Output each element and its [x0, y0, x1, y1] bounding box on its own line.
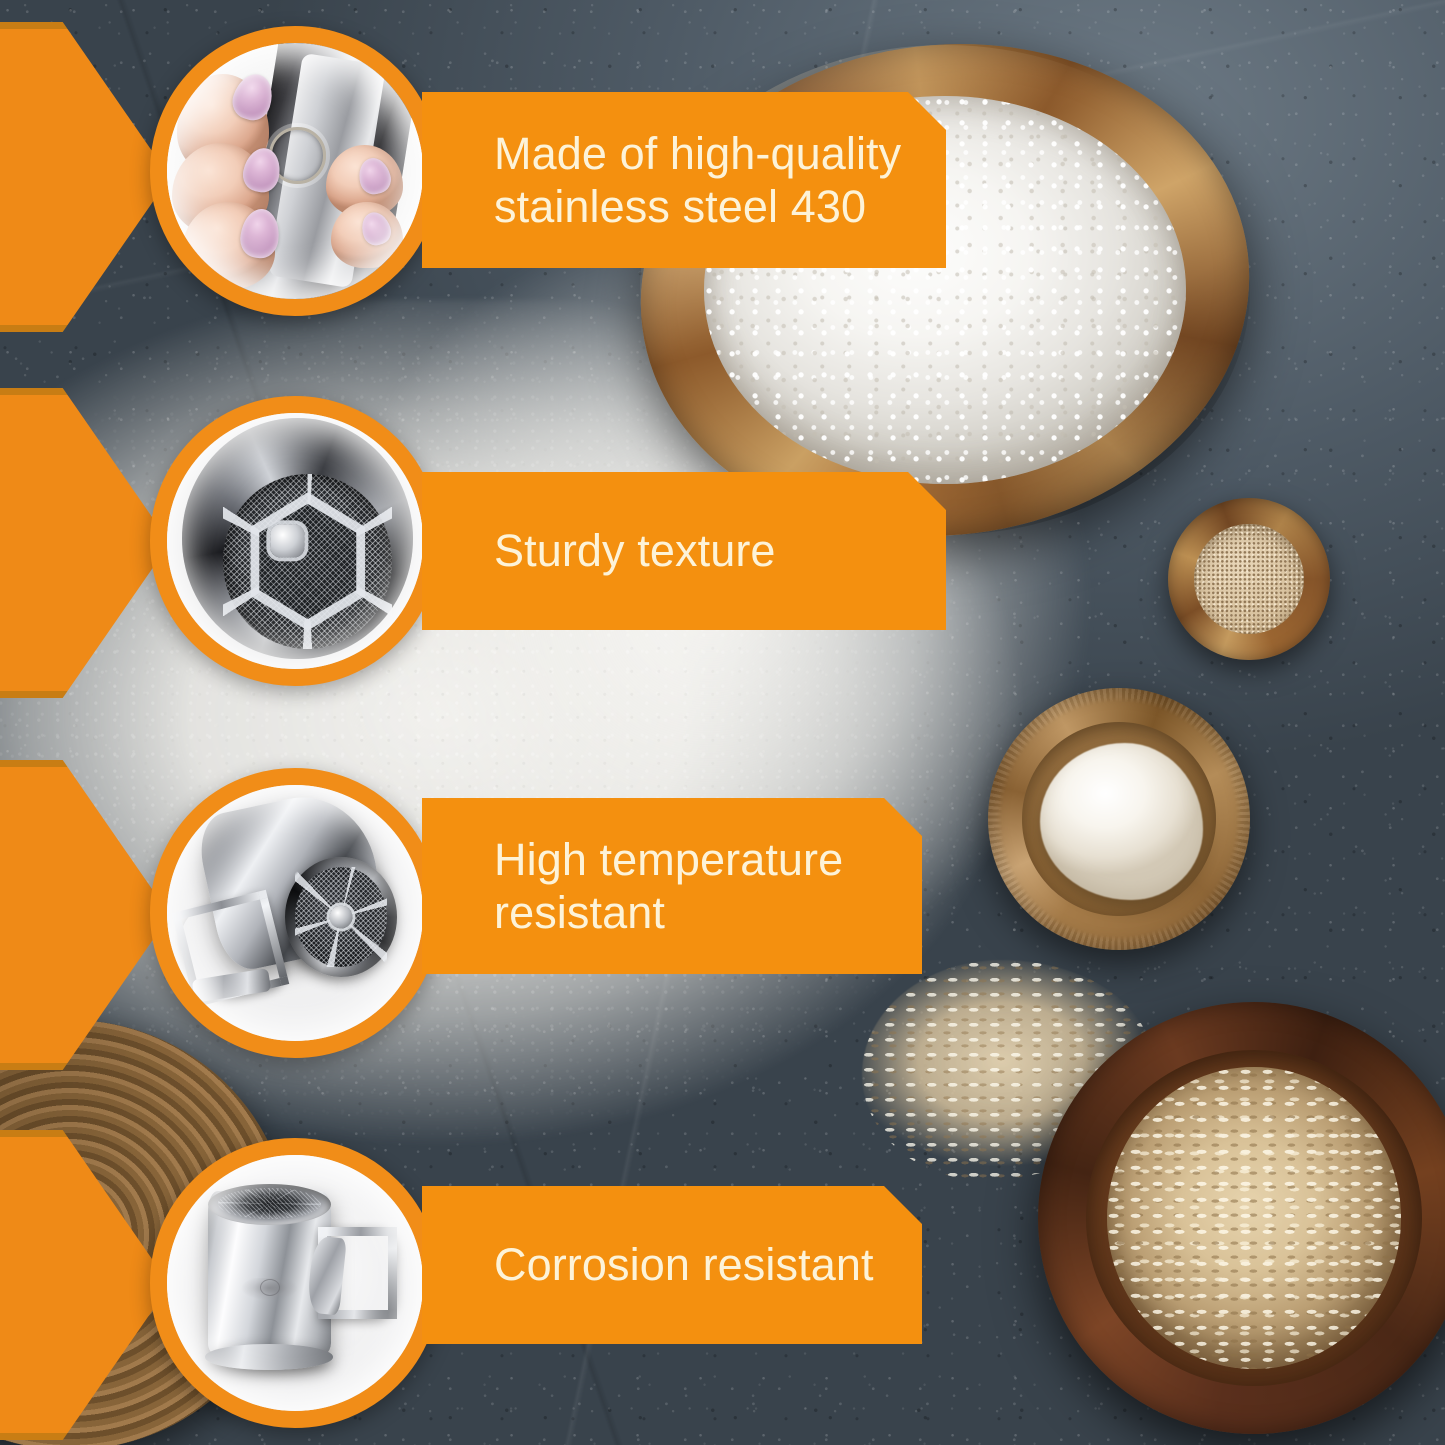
agitator-hub	[330, 905, 353, 928]
feature-banner-3: High temperature resistant	[422, 798, 922, 974]
barley-grain-texture	[1107, 1067, 1401, 1369]
photo-upright-sifter	[167, 1155, 423, 1411]
bowl-of-barley-grains	[1038, 1002, 1445, 1434]
feature-label-4: Corrosion resistant	[494, 1238, 874, 1291]
feature-banner-4: Corrosion resistant	[422, 1186, 922, 1344]
yeast-granule-texture	[1194, 524, 1304, 634]
photo-mesh-screen	[167, 413, 423, 669]
sifter-base	[205, 1344, 333, 1370]
photo-sifter-on-side	[167, 785, 423, 1041]
feature-label-2: Sturdy texture	[494, 524, 776, 577]
feature-label-3: High temperature resistant	[494, 833, 843, 939]
feature-photo-2	[150, 396, 440, 686]
feature-photo-1	[150, 26, 440, 316]
interior-mesh	[218, 1188, 320, 1219]
bowl-of-sourdough-starter	[988, 688, 1250, 950]
feature-banner-2: Sturdy texture	[422, 472, 946, 630]
feature-banner-1: Made of high-quality stainless steel 430	[422, 92, 946, 268]
bowl-of-dry-yeast	[1168, 498, 1330, 660]
agitator-hub	[271, 524, 304, 557]
feature-photo-3	[150, 768, 440, 1058]
feature-label-1: Made of high-quality stainless steel 430	[494, 127, 901, 233]
photo-hand-gripping-handle	[167, 43, 423, 299]
feature-photo-4	[150, 1138, 440, 1428]
infographic-canvas: Made of high-quality stainless steel 430…	[0, 0, 1445, 1445]
brand-logo-engraving	[241, 1278, 297, 1304]
